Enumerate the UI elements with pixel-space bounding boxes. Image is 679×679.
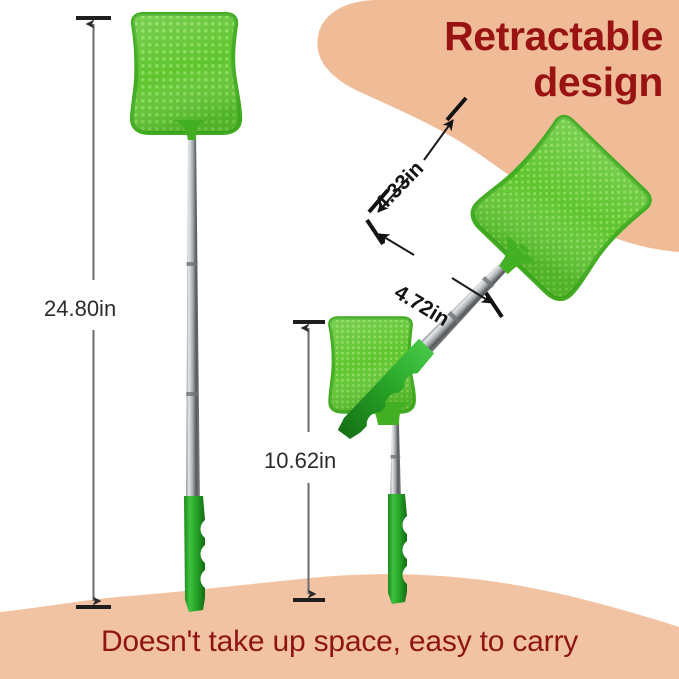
dimension-label-24-80in: 24.80in — [44, 296, 116, 322]
dim-arrow-nw-4-72 — [379, 234, 414, 255]
dimension-label-10-62in: 10.62in — [264, 448, 336, 474]
dim-tick-b-4-72 — [486, 293, 502, 317]
product-infographic: Retractable design 24.80in 10.62in 4.33i… — [0, 0, 679, 679]
caption-text: Doesn't take up space, easy to carry — [0, 625, 679, 659]
dim-arrow-se-4-72 — [452, 278, 492, 303]
headline-line-2: design — [363, 60, 663, 106]
dim-arrow-ne-4-33 — [424, 120, 453, 160]
headline-line-1: Retractable — [444, 13, 663, 59]
dim-tick-a-4-72 — [367, 220, 383, 244]
headline: Retractable design — [363, 14, 663, 106]
